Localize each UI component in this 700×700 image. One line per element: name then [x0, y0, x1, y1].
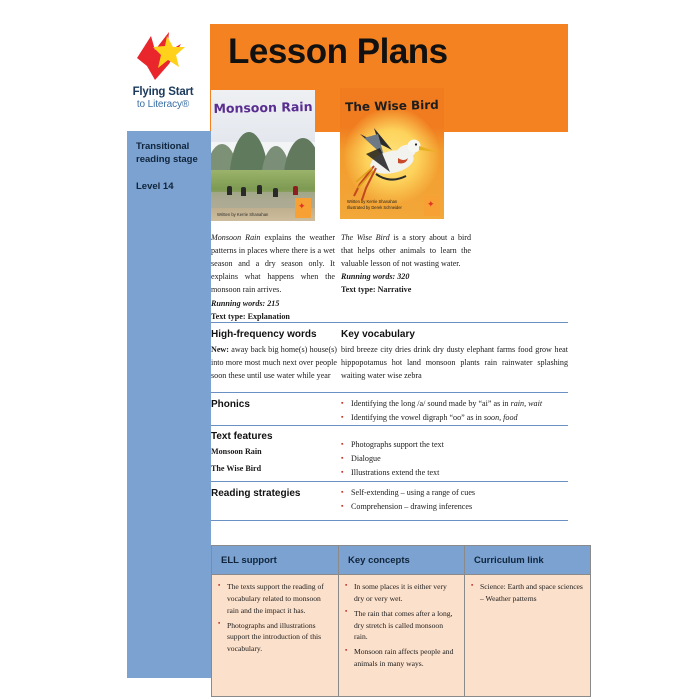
publisher-badge: ✦ — [424, 196, 440, 216]
page-title: Lesson Plans — [228, 33, 558, 72]
high-frequency-words: New: away back big home(s) house(s) into… — [211, 343, 337, 382]
text-features-bullets: Photographs support the text Dialogue Il… — [341, 438, 568, 480]
table-header-ell-support: ELL support — [211, 545, 338, 575]
key-vocabulary-words: bird breeze city dries drink dry dusty e… — [341, 343, 568, 382]
desc-body: explains the weather patterns in places … — [211, 233, 335, 294]
book-description-monsoon-rain: Monsoon Rain explains the weather patter… — [211, 231, 335, 323]
text-features-book-1: Monsoon Rain — [211, 445, 331, 458]
running-words-label: Running words: — [341, 272, 395, 281]
book-cover-monsoon-rain: Monsoon Rain Written by Kerrie Shanahan … — [211, 90, 315, 221]
level-sidebar: Transitional reading stage Level 14 — [127, 131, 211, 678]
section-divider — [211, 481, 568, 482]
table-header-key-concepts: Key concepts — [338, 545, 464, 575]
phonics-bullets: Identifying the long /a/ sound made by “… — [341, 397, 568, 425]
running-words-value: 215 — [267, 299, 279, 308]
text-type-value: Explanation — [248, 312, 290, 321]
text-type-label: Text type: — [341, 285, 376, 294]
list-item: Self-extending – using a range of cues — [341, 486, 568, 500]
section-text-features-label: Text features Monsoon Rain The Wise Bird — [211, 431, 331, 475]
list-item: Dialogue — [341, 452, 568, 466]
cover-hills — [211, 128, 315, 176]
list-item: Identifying the long /a/ sound made by “… — [341, 397, 568, 411]
brand-name: Flying Start — [119, 86, 207, 99]
level-label: Level 14 — [136, 181, 202, 192]
list-item: Science: Earth and space sciences – Weat… — [471, 581, 583, 605]
table-header-curriculum-link: Curriculum link — [464, 545, 591, 575]
text-type-label: Text type: — [211, 312, 246, 321]
text-features-book-2: The Wise Bird — [211, 462, 331, 475]
high-frequency-heading: High-frequency words — [211, 329, 337, 340]
support-table: ELL support Key concepts Curriculum link… — [211, 545, 591, 697]
running-words-value: 320 — [397, 272, 409, 281]
brand-logo: Flying Start to Literacy® — [119, 30, 207, 110]
table-cell-ell-support: The texts support the reading of vocabul… — [211, 575, 338, 697]
table-header-row: ELL support Key concepts Curriculum link — [211, 545, 591, 575]
list-item: In some places it is either very dry or … — [345, 581, 457, 605]
book-byline-wise-bird: Written by Kerrie Shanahan Illustrated b… — [347, 199, 402, 211]
reading-strategies-bullets: Self-extending – using a range of cues C… — [341, 486, 568, 514]
text-features-heading: Text features — [211, 431, 331, 442]
list-item: Illustrations extend the text — [341, 466, 568, 480]
reading-strategies-heading: Reading strategies — [211, 488, 331, 499]
list-item: Identifying the vowel digraph “oo” as in… — [341, 411, 568, 425]
brand-subtitle: to Literacy® — [119, 99, 207, 111]
section-reading-strategies-label: Reading strategies — [211, 488, 331, 499]
table-body-row: The texts support the reading of vocabul… — [211, 575, 591, 697]
book-title-wise-bird: The Wise Bird — [340, 98, 444, 115]
list-item: Photographs support the text — [341, 438, 568, 452]
list-item: Photographs and illustrations support th… — [218, 620, 331, 656]
section-phonics-label: Phonics — [211, 399, 331, 410]
phonics-heading: Phonics — [211, 399, 331, 410]
section-divider — [211, 392, 568, 393]
table-cell-curriculum-link: Science: Earth and space sciences – Weat… — [464, 575, 591, 697]
key-vocabulary-heading: Key vocabulary — [341, 329, 568, 340]
table-cell-key-concepts: In some places it is either very dry or … — [338, 575, 464, 697]
section-divider — [211, 520, 568, 521]
publisher-badge: ✦ — [295, 198, 311, 218]
section-high-frequency-words: High-frequency words New: away back big … — [211, 329, 337, 382]
list-item: The rain that comes after a long, dry st… — [345, 608, 457, 644]
desc-title-italic: Monsoon Rain — [211, 233, 260, 242]
section-divider — [211, 425, 568, 426]
lesson-plan-page: Lesson Plans Flying Start to Literacy® T… — [0, 0, 700, 700]
section-divider — [211, 322, 568, 323]
list-item: The texts support the reading of vocabul… — [218, 581, 331, 617]
book-title-monsoon-rain: Monsoon Rain — [211, 99, 315, 116]
text-type-value: Narrative — [378, 285, 412, 294]
running-words-label: Running words: — [211, 299, 265, 308]
book-description-wise-bird: The Wise Bird is a story about a bird th… — [341, 231, 471, 297]
list-item: Comprehension – drawing inferences — [341, 500, 568, 514]
list-item: Monsoon rain affects people and animals … — [345, 646, 457, 670]
book-byline-monsoon-rain: Written by Kerrie Shanahan — [217, 212, 268, 217]
book-cover-wise-bird: The Wise Bird Written by Kerrie Shanahan… — [340, 88, 444, 219]
section-key-vocabulary: Key vocabulary bird breeze city dries dr… — [341, 329, 568, 382]
flying-star-icon — [133, 30, 193, 82]
reading-stage-label: Transitional reading stage — [136, 141, 202, 167]
desc-title-italic: The Wise Bird — [341, 233, 390, 242]
